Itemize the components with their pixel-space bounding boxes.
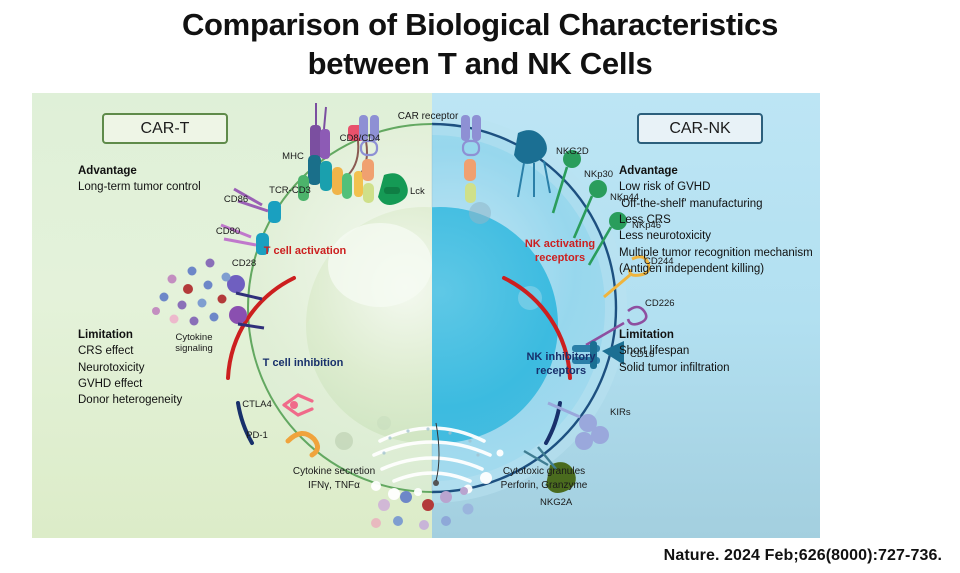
title-line-2: between T and NK Cells [0, 45, 960, 84]
label-cd28: CD28 [232, 258, 256, 269]
label-nkg2a: NKG2A [540, 497, 572, 508]
car-t-advantage-heading: Advantage [78, 163, 201, 179]
cell-illustration [32, 93, 820, 538]
caption-cytotoxic-granules-l2: Perforin, Granzyme [501, 480, 588, 491]
label-mhc: MHC [282, 151, 304, 162]
caption-cytokine-secretion-l2: IFNγ, TNFα [308, 480, 360, 491]
page-title: Comparison of Biological Characteristics… [0, 6, 960, 84]
caption-nk-activation: NK activating receptors [525, 238, 595, 266]
label-nkg2d: NKG2D [556, 146, 589, 157]
label-cytokine-signaling-l1: Cytokine [176, 332, 213, 343]
caption-t-activation: T cell activation [264, 245, 347, 259]
caption-nk-inhibition-l2: receptors [536, 365, 586, 377]
label-tcr-cd3: TCR-CD3 [269, 185, 311, 196]
organelle [469, 202, 491, 224]
car-nk-advantage-item: Low risk of GVHD [619, 179, 813, 195]
caption-cytokine-secretion: Cytokine secretion IFNγ, TNFα [293, 465, 375, 492]
caption-nk-inhibition-l1: NK inhibitory [526, 351, 595, 363]
car-nk-limitation-item: Solid tumor infiltration [619, 360, 730, 376]
label-cytokine-signaling-l2: signaling [175, 343, 213, 354]
label-kirs: KIRs [610, 407, 631, 418]
label-nkp44: NKp44 [610, 192, 639, 203]
label-cd226: CD226 [645, 298, 675, 309]
label-cd86: CD86 [224, 194, 248, 205]
car-nk-badge[interactable]: CAR-NK [637, 113, 763, 144]
label-lck: Lck [410, 186, 425, 197]
car-t-limitation-item: CRS effect [78, 343, 182, 359]
citation-text: Nature. 2024 Feb;626(8000):727-736. [664, 547, 942, 565]
car-nk-limitation-heading: Limitation [619, 327, 730, 343]
label-pd-1: PD-1 [246, 430, 268, 441]
car-t-limitation-heading: Limitation [78, 327, 182, 343]
car-t-limitation-item: Donor heterogeneity [78, 392, 182, 408]
caption-cytotoxic-granules-l1: Cytotoxic granules [503, 466, 585, 477]
car-t-advantage-block: Advantage Long-term tumor control [78, 163, 201, 196]
mhc-glyph [310, 103, 330, 159]
caption-nk-activation-l1: NK activating [525, 238, 595, 250]
organelle [335, 432, 353, 450]
cytokine-particles [152, 259, 231, 326]
figure-panel: CAR-T CAR-NK Advantage Long-term tumor c… [32, 93, 820, 538]
car-nk-advantage-heading: Advantage [619, 163, 813, 179]
caption-t-inhibition: T cell inhibition [263, 357, 344, 371]
organelle [377, 416, 391, 430]
car-nk-advantage-item: 'Off-the-shelf' manufacturing [619, 196, 813, 212]
label-cytokine-signaling: Cytokine signaling [175, 332, 213, 355]
car-t-badge-label: CAR-T [141, 120, 190, 138]
label-ctla4: CTLA4 [242, 399, 272, 410]
label-cd80: CD80 [216, 226, 240, 237]
car-t-limitation-block: Limitation CRS effect Neurotoxicity GVHD… [78, 327, 182, 409]
car-t-limitation-item: GVHD effect [78, 376, 182, 392]
car-t-advantage-item: Long-term tumor control [78, 179, 201, 195]
label-nkp46: NKp46 [632, 220, 661, 231]
label-cd8-cd4: CD8/CD4 [340, 133, 381, 144]
caption-nk-activation-l2: receptors [535, 252, 585, 264]
label-car-receptor: CAR receptor [398, 111, 459, 123]
car-nk-badge-label: CAR-NK [669, 120, 730, 138]
car-t-badge[interactable]: CAR-T [102, 113, 228, 144]
caption-cytokine-secretion-l1: Cytokine secretion [293, 466, 375, 477]
caption-nk-inhibition: NK inhibitory receptors [526, 351, 595, 379]
label-cd16: CD16 [630, 349, 654, 360]
caption-cytotoxic-granules: Cytotoxic granules Perforin, Granzyme [501, 465, 588, 492]
title-line-1: Comparison of Biological Characteristics [0, 6, 960, 45]
car-t-limitation-item: Neurotoxicity [78, 360, 182, 376]
label-nkp30: NKp30 [584, 169, 613, 180]
label-cd244: CD244 [644, 256, 674, 267]
